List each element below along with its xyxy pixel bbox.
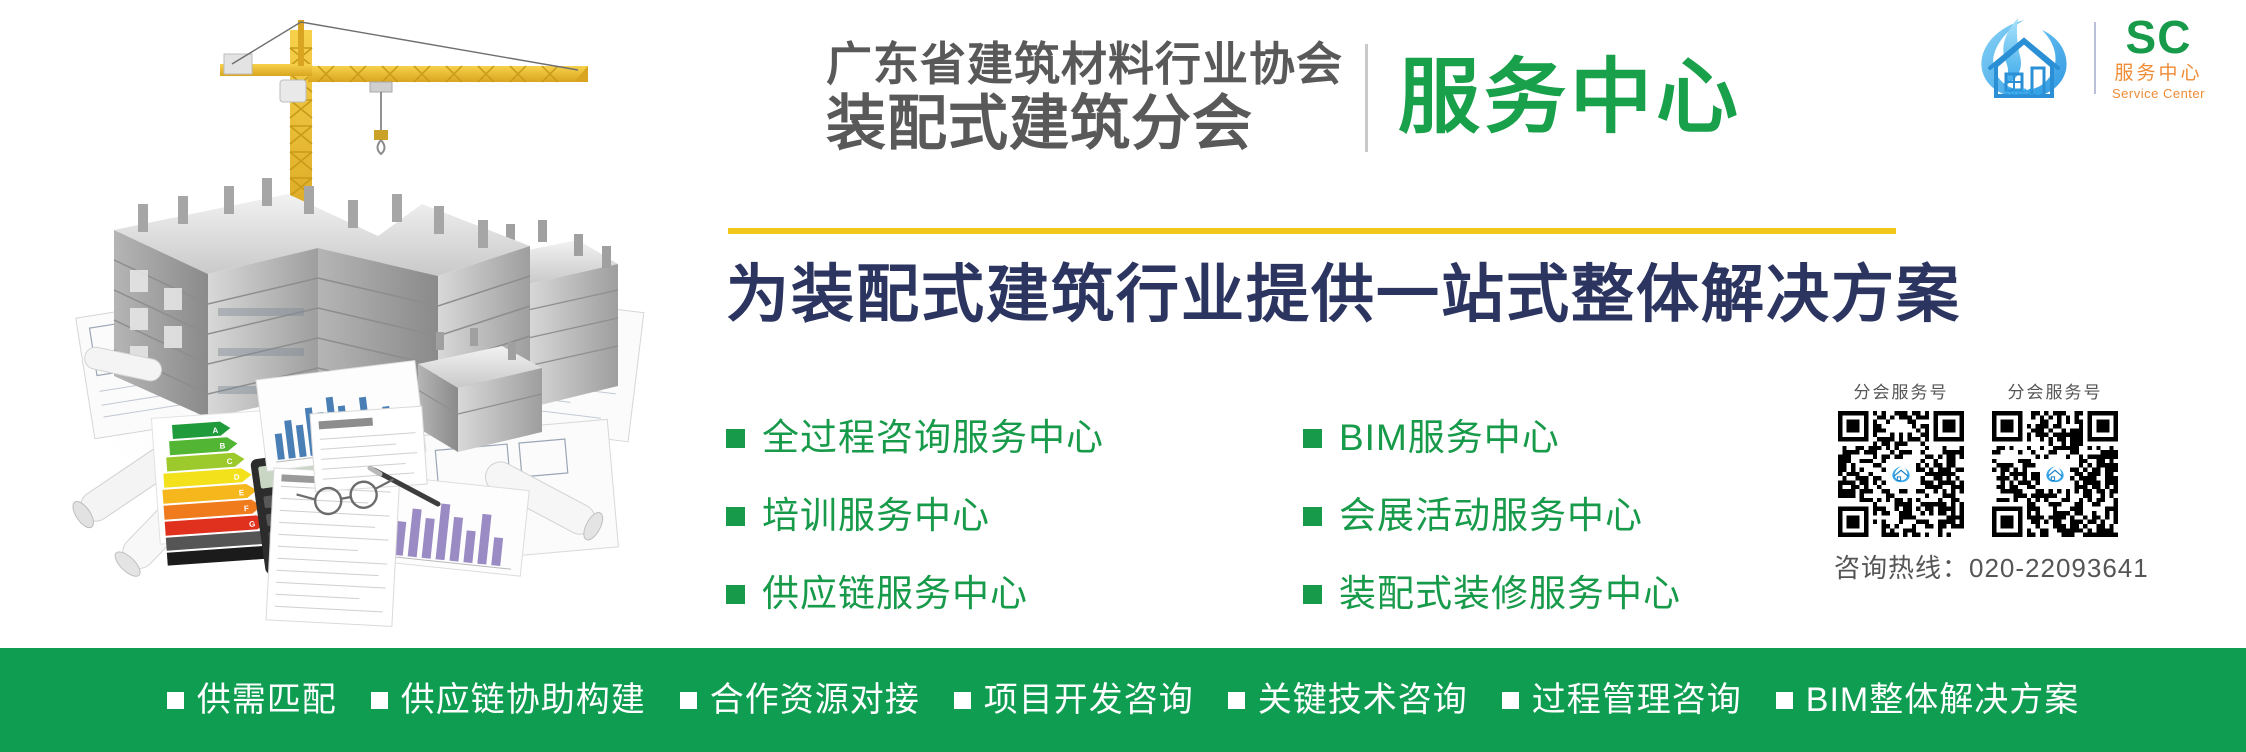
svg-text:C: C	[226, 457, 233, 466]
bottom-service-bar: 供需匹配 供应链协助构建 合作资源对接 项目开发咨询 关键技术咨询 过程管理咨询	[0, 648, 2246, 752]
square-bullet-icon	[1303, 429, 1322, 448]
service-list-right: BIM服务中心 会展活动服务中心 装配式装修服务中心	[1303, 412, 1681, 646]
square-bullet-icon	[1776, 692, 1793, 709]
service-item-label: 培训服务中心	[762, 495, 990, 537]
bottom-bar-item[interactable]: 关键技术咨询	[1228, 680, 1468, 720]
form-document	[266, 468, 400, 626]
square-bullet-icon	[726, 585, 745, 604]
service-item[interactable]: 会展活动服务中心	[1303, 490, 1681, 542]
square-bullet-icon	[726, 429, 745, 448]
service-item-label: 全过程咨询服务中心	[762, 417, 1104, 459]
svg-text:A: A	[212, 426, 219, 435]
service-item-label: 供应链服务中心	[762, 573, 1028, 615]
square-bullet-icon	[1502, 692, 1519, 709]
construction-illustration: ABC DEF G	[18, 8, 648, 638]
svg-text:D: D	[233, 472, 240, 481]
bar-chart-document-2	[381, 476, 529, 576]
logo-wordmark: SC 服务中心 Service Center	[2112, 14, 2205, 102]
svg-text:G: G	[249, 519, 256, 528]
logo-cn-text: 服务中心	[2114, 62, 2202, 86]
service-item[interactable]: BIM服务中心	[1303, 412, 1681, 464]
bottom-bar-item[interactable]: 过程管理咨询	[1502, 680, 1742, 720]
square-bullet-icon	[954, 692, 971, 709]
header-title-row: 广东省建筑材料行业协会 装配式建筑分会 服务中心	[826, 38, 1742, 158]
house-flame-icon: GDPCB	[1970, 12, 2078, 104]
promo-banner: ABC DEF G	[0, 0, 2246, 752]
bottom-bar-label: BIM整体解决方案	[1806, 680, 2079, 720]
bottom-bar-item[interactable]: 供应链协助构建	[371, 680, 646, 720]
bottom-bar-item[interactable]: 合作资源对接	[680, 680, 920, 720]
qr-code-entry: 分会服务号	[1838, 382, 1964, 537]
headline-slogan: 为装配式建筑行业提供一站式整体解决方案	[726, 258, 1961, 332]
brand-logo: GDPCB SC 服务中心 Service Center	[1970, 12, 2205, 104]
bottom-bar-item[interactable]: 供需匹配	[167, 680, 337, 720]
logo-en-text: Service Center	[2112, 86, 2205, 102]
qr-code-block: 分会服务号 分会服务号	[1838, 382, 2118, 537]
service-item[interactable]: 培训服务中心	[726, 490, 1104, 542]
square-bullet-icon	[1228, 692, 1245, 709]
square-bullet-icon	[1303, 507, 1322, 526]
square-bullet-icon	[371, 692, 388, 709]
bottom-bar-label: 项目开发咨询	[984, 680, 1194, 720]
qr-center-logo-icon	[2040, 459, 2070, 489]
svg-text:F: F	[244, 504, 250, 513]
bottom-bar-item[interactable]: BIM整体解决方案	[1776, 680, 2079, 720]
svg-text:B: B	[219, 441, 226, 450]
logo-mark-caption: GDPCB	[1970, 87, 2078, 97]
qr-code-icon[interactable]	[1838, 411, 1964, 537]
square-bullet-icon	[167, 692, 184, 709]
bottom-bar-items: 供需匹配 供应链协助构建 合作资源对接 项目开发咨询 关键技术咨询 过程管理咨询	[167, 680, 2079, 720]
bottom-bar-label: 过程管理咨询	[1532, 680, 1742, 720]
qr-code-entry: 分会服务号	[1992, 382, 2118, 537]
square-bullet-icon	[680, 692, 697, 709]
service-item-label: 会展活动服务中心	[1339, 495, 1643, 537]
square-bullet-icon	[726, 507, 745, 526]
qr-code-icon[interactable]	[1992, 411, 2118, 537]
hotline-text: 咨询热线：020-22093641	[1834, 552, 2149, 584]
association-line2: 装配式建筑分会	[826, 90, 1343, 158]
qr-center-logo-icon	[1886, 459, 1916, 489]
yellow-divider-rule	[728, 228, 1896, 234]
qr-caption: 分会服务号	[2008, 382, 2103, 404]
association-name: 广东省建筑材料行业协会 装配式建筑分会	[826, 38, 1343, 158]
service-item[interactable]: 全过程咨询服务中心	[726, 412, 1104, 464]
qr-caption: 分会服务号	[1854, 382, 1949, 404]
title-divider	[1365, 44, 1368, 152]
service-item[interactable]: 供应链服务中心	[726, 568, 1104, 620]
service-item[interactable]: 装配式装修服务中心	[1303, 568, 1681, 620]
bottom-bar-item[interactable]: 项目开发咨询	[954, 680, 1194, 720]
logo-divider	[2094, 22, 2096, 94]
bottom-bar-label: 供需匹配	[197, 680, 337, 720]
logo-sc-text: SC	[2126, 14, 2192, 60]
bottom-bar-label: 关键技术咨询	[1258, 680, 1468, 720]
association-line1: 广东省建筑材料行业协会	[826, 38, 1343, 90]
mortgage-application-document	[310, 406, 427, 492]
service-item-label: 装配式装修服务中心	[1339, 573, 1681, 615]
square-bullet-icon	[1303, 585, 1322, 604]
service-center-title: 服务中心	[1398, 52, 1742, 144]
service-list-left: 全过程咨询服务中心 培训服务中心 供应链服务中心	[726, 412, 1104, 646]
bottom-bar-label: 供应链协助构建	[401, 680, 646, 720]
service-item-label: BIM服务中心	[1339, 417, 1560, 459]
bottom-bar-label: 合作资源对接	[710, 680, 920, 720]
